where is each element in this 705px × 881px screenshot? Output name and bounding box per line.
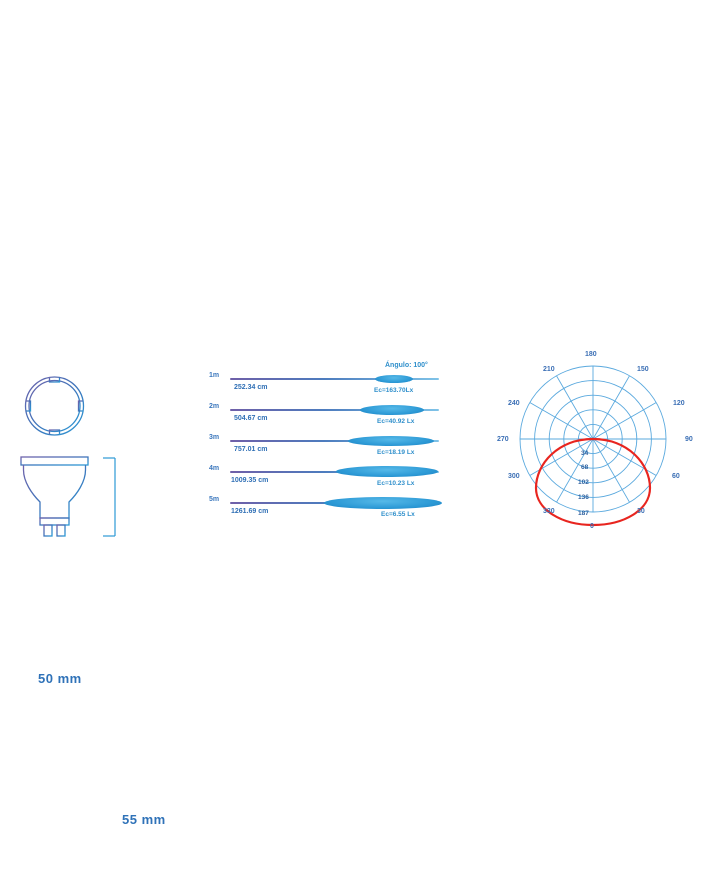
polar-radial-label-34: 34: [581, 450, 588, 457]
beam-spot: [348, 436, 434, 446]
beam-row: 2m 504.67 cm Ec=40.92 Lx: [200, 403, 455, 435]
polar-angle-label-180: 180: [585, 351, 597, 358]
beam-illuminance-label: Ec=6.55 Lx: [381, 511, 415, 518]
beam-spot: [336, 466, 438, 477]
polar-angle-label-270: 270: [497, 436, 509, 443]
height-dimension-label: 55 mm: [122, 812, 166, 827]
polar-radial-label-102: 102: [578, 479, 589, 486]
polar-radial-label-136: 136: [578, 494, 589, 501]
beam-illuminance-label: Ec=40.92 Lx: [377, 418, 414, 425]
beam-illuminance-label: Ec=163.70Lx: [374, 387, 413, 394]
polar-angle-label-60: 60: [672, 473, 680, 480]
polar-photometric-diagram: 180 150 120 90 60 30 0 330 300 270 240 2…: [480, 340, 705, 545]
lamp-top-view: [26, 377, 84, 435]
beam-width-label: 252.34 cm: [234, 384, 267, 391]
polar-angle-label-300: 300: [508, 473, 520, 480]
beam-spot: [324, 497, 442, 509]
beam-illuminance-label: Ec=18.19 Lx: [377, 449, 414, 456]
beam-width-label: 757.01 cm: [234, 446, 267, 453]
beam-row: 1m 252.34 cm Ec=163.70Lx: [200, 372, 455, 404]
beam-spot: [360, 405, 424, 415]
lamp-drawings-svg: [0, 330, 200, 550]
lamp-side-view: [21, 457, 88, 536]
polar-angle-label-150: 150: [637, 366, 649, 373]
polar-angle-label-120: 120: [673, 400, 685, 407]
beam-spread-diagram: Ángulo: 100° 1m 252.34 cm Ec=163.70Lx 2m…: [200, 355, 455, 525]
beam-row: 5m 1261.69 cm Ec=6.55 Lx: [200, 496, 455, 528]
beam-distance-label: 1m: [209, 372, 219, 379]
beam-width-label: 1009.35 cm: [231, 477, 268, 484]
polar-angle-label-240: 240: [508, 400, 520, 407]
beam-angle-label: Ángulo: 100°: [385, 362, 428, 369]
beam-width-label: 1261.69 cm: [231, 508, 268, 515]
polar-radial-label-68: 68: [581, 464, 588, 471]
polar-angle-label-90: 90: [685, 436, 693, 443]
beam-row: 3m 757.01 cm Ec=18.19 Lx: [200, 434, 455, 466]
polar-grid-svg: [480, 340, 705, 545]
beam-spot: [375, 375, 413, 383]
beam-distance-label: 3m: [209, 434, 219, 441]
height-dimension-bracket: [103, 458, 115, 536]
width-dimension-bracket: [19, 356, 90, 367]
width-dimension-label: 50 mm: [38, 671, 82, 686]
polar-angle-label-0: 0: [590, 523, 594, 530]
beam-width-label: 504.67 cm: [234, 415, 267, 422]
beam-distance-label: 5m: [209, 496, 219, 503]
polar-angle-label-30: 30: [637, 508, 645, 515]
dimensions-diagram: 50 mm 55 mm: [0, 330, 200, 550]
polar-radial-label-187: 187: [578, 510, 589, 517]
polar-angle-label-210: 210: [543, 366, 555, 373]
beam-distance-label: 4m: [209, 465, 219, 472]
beam-row: 4m 1009.35 cm Ec=10.23 Lx: [200, 465, 455, 497]
beam-illuminance-label: Ec=10.23 Lx: [377, 480, 414, 487]
polar-angle-label-330: 330: [543, 508, 555, 515]
beam-distance-label: 2m: [209, 403, 219, 410]
